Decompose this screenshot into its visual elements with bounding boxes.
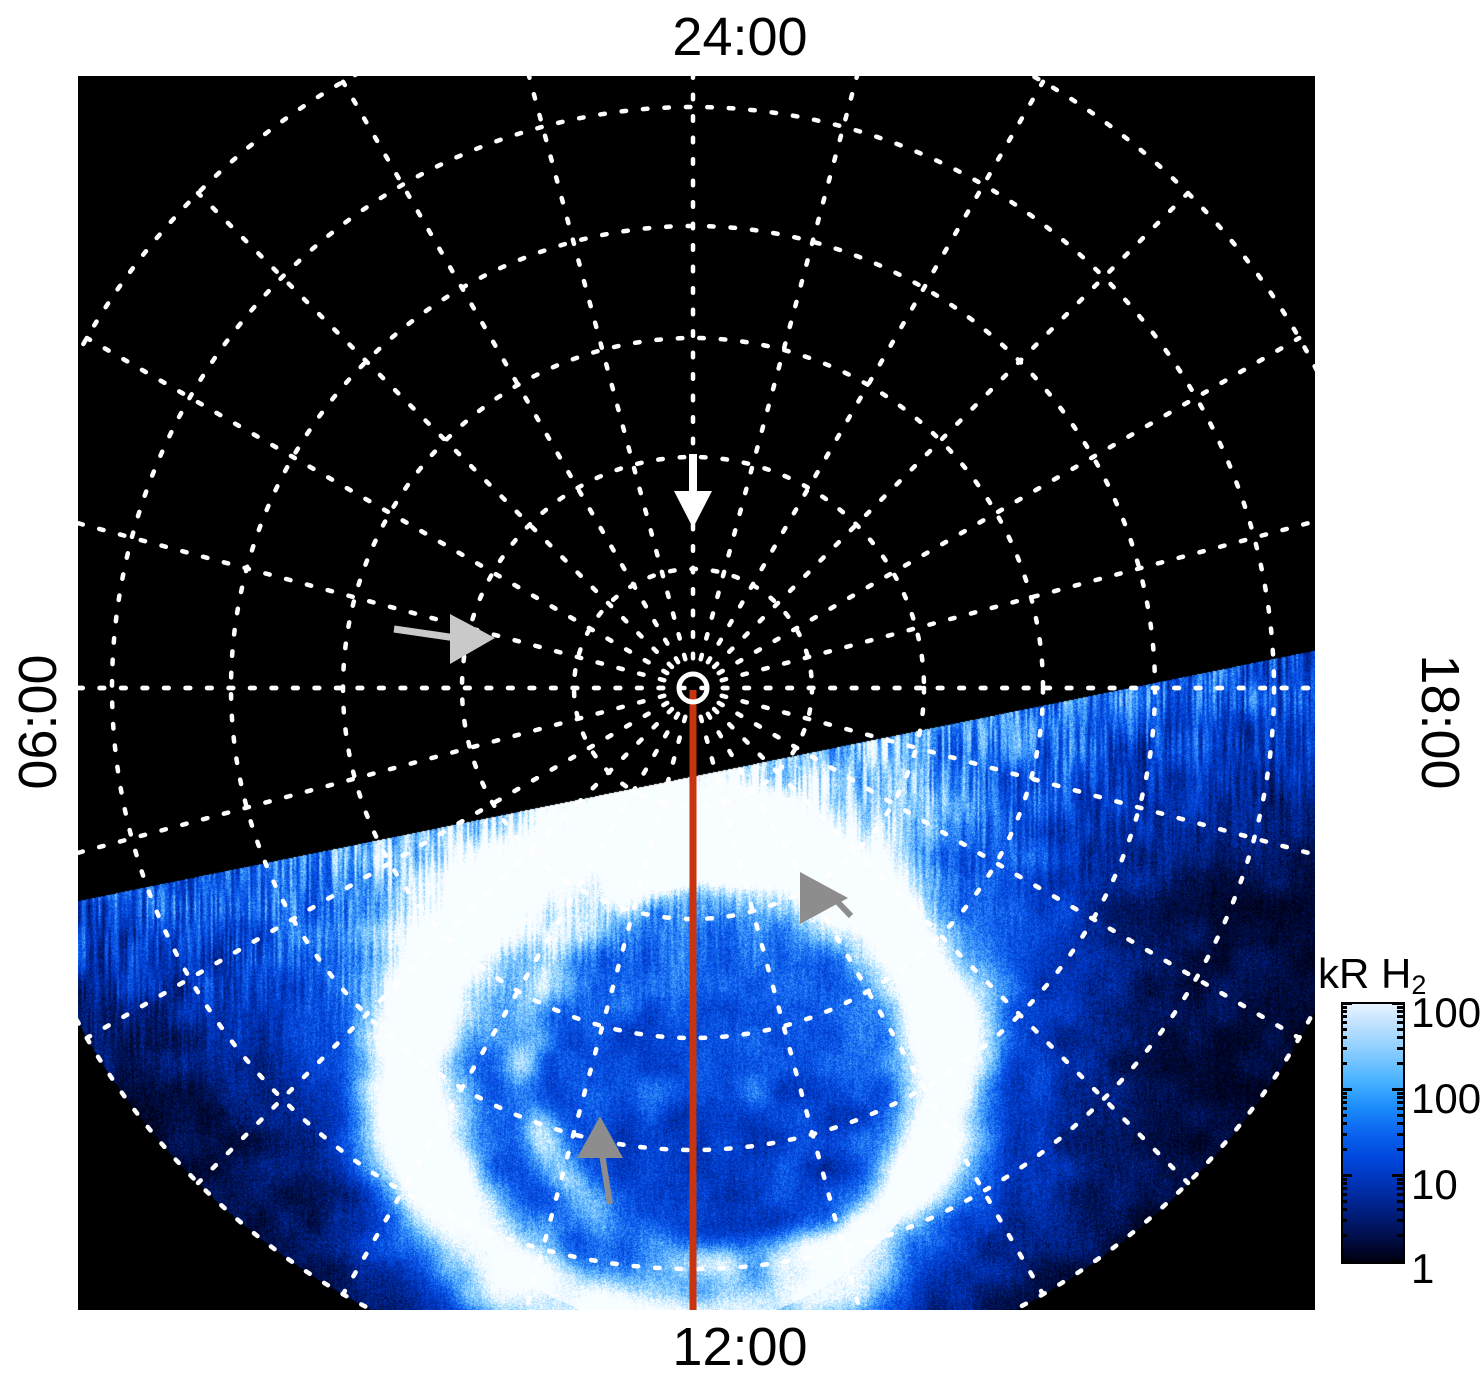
colorbar-tick <box>1397 1047 1403 1050</box>
colorbar-tick <box>1341 1193 1347 1196</box>
local-time-label-right: 18:00 <box>1409 622 1471 822</box>
colorbar-tick <box>1341 1107 1347 1110</box>
colorbar-tick <box>1392 1088 1403 1091</box>
colorbar-tick <box>1397 1092 1403 1095</box>
colorbar-tick <box>1341 1208 1347 1211</box>
colorbar-tick <box>1397 1015 1403 1018</box>
colorbar-tick <box>1397 1096 1403 1099</box>
colorbar-tick <box>1341 1028 1347 1031</box>
colorbar-tick <box>1397 1107 1403 1110</box>
colorbar-tick <box>1341 1002 1352 1005</box>
colorbar-tick <box>1341 1036 1347 1039</box>
colorbar-group: kR H2 1000 100 10 1 <box>1318 950 1480 1320</box>
colorbar-tick <box>1341 1178 1347 1181</box>
colorbar-tick <box>1397 1182 1403 1185</box>
colorbar-tick-label-1: 1 <box>1411 1248 1434 1290</box>
colorbar-tick <box>1341 1200 1347 1203</box>
colorbar-tick <box>1392 1002 1403 1005</box>
colorbar-title-text: kR H <box>1318 950 1411 997</box>
polar-plot-area <box>78 76 1315 1310</box>
colorbar-gradient <box>1341 1002 1405 1264</box>
local-time-label-top: 24:00 <box>0 6 1480 68</box>
colorbar-tick <box>1341 1006 1347 1009</box>
colorbar-tick-label-1000: 1000 <box>1411 992 1480 1034</box>
colorbar-tick <box>1341 1187 1347 1190</box>
colorbar-tick <box>1341 1101 1347 1104</box>
colorbar-tick <box>1341 1114 1347 1117</box>
colorbar-tick <box>1397 1010 1403 1013</box>
colorbar-tick <box>1341 1234 1347 1237</box>
local-time-label-bottom: 12:00 <box>0 1316 1480 1378</box>
colorbar-tick <box>1341 1174 1352 1177</box>
colorbar-tick <box>1341 1015 1347 1018</box>
colorbar-tick <box>1397 1200 1403 1203</box>
colorbar-tick <box>1397 1101 1403 1104</box>
colorbar-tick <box>1397 1193 1403 1196</box>
colorbar-tick <box>1392 1260 1403 1263</box>
colorbar-tick <box>1341 1148 1347 1151</box>
colorbar-tick <box>1397 1006 1403 1009</box>
colorbar-tick <box>1341 1062 1347 1065</box>
colorbar-tick <box>1397 1208 1403 1211</box>
colorbar-tick <box>1392 1174 1403 1177</box>
colorbar-tick-label-10: 10 <box>1411 1164 1458 1206</box>
colorbar-tick <box>1397 1036 1403 1039</box>
colorbar-tick <box>1341 1133 1347 1136</box>
colorbar-tick <box>1341 1021 1347 1024</box>
colorbar-tick <box>1341 1088 1352 1091</box>
colorbar-tick <box>1397 1062 1403 1065</box>
colorbar-tick <box>1397 1187 1403 1190</box>
colorbar-tick <box>1341 1010 1347 1013</box>
colorbar-tick <box>1341 1260 1352 1263</box>
colorbar-tick <box>1397 1021 1403 1024</box>
colorbar-tick <box>1341 1047 1347 1050</box>
colorbar-tick <box>1341 1219 1347 1222</box>
colorbar-tick <box>1397 1148 1403 1151</box>
colorbar-tick <box>1397 1028 1403 1031</box>
colorbar-tick <box>1397 1219 1403 1222</box>
colorbar-tick <box>1341 1182 1347 1185</box>
local-time-label-left: 06:00 <box>7 622 69 822</box>
colorbar-tick <box>1397 1114 1403 1117</box>
colorbar-tick <box>1397 1178 1403 1181</box>
aurora-image <box>78 76 1315 1310</box>
colorbar-tick <box>1397 1234 1403 1237</box>
colorbar-tick <box>1397 1122 1403 1125</box>
colorbar-tick <box>1397 1133 1403 1136</box>
colorbar-tick <box>1341 1092 1347 1095</box>
colorbar-tick-label-100: 100 <box>1411 1078 1480 1120</box>
colorbar-tick <box>1341 1096 1347 1099</box>
colorbar-tick <box>1341 1122 1347 1125</box>
